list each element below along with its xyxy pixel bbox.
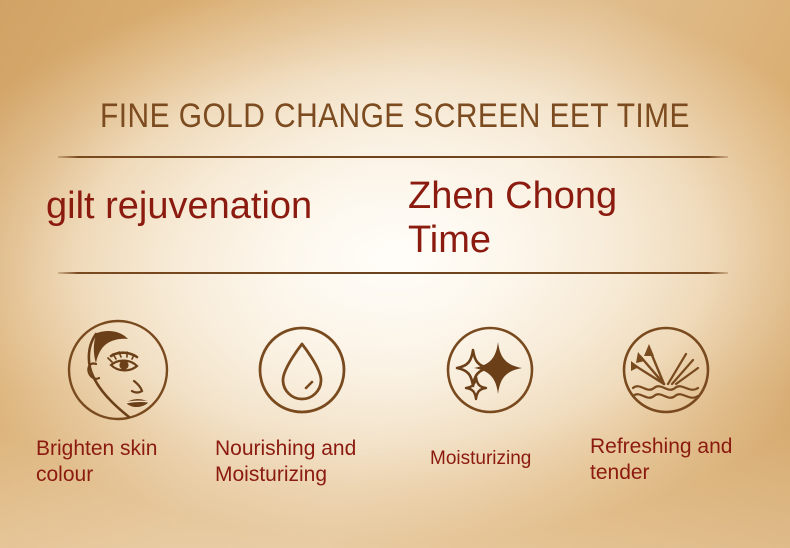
divider-top [58, 156, 728, 158]
feature-label-row: Brighten skin colour Nourishing and Mois… [0, 432, 790, 502]
banner-title: FINE GOLD CHANGE SCREEN EET TIME [47, 96, 742, 136]
sun-rays-water-icon [614, 318, 718, 422]
water-drop-icon [250, 318, 354, 422]
feature-label-moisturizing: Moisturizing [430, 446, 600, 472]
subtitle-row: gilt rejuvenation Zhen Chong Time [0, 168, 790, 268]
product-feature-banner: FINE GOLD CHANGE SCREEN EET TIME gilt re… [0, 0, 790, 548]
woman-face-icon [66, 318, 170, 422]
subtitle-left: gilt rejuvenation [46, 184, 312, 228]
divider-bottom [58, 272, 728, 274]
sparkles-icon [438, 318, 542, 422]
feature-label-brighten-skin-colour: Brighten skin colour [36, 436, 216, 488]
feature-icon-row [0, 312, 790, 432]
subtitle-right: Zhen Chong Time [408, 174, 698, 262]
feature-label-nourishing-and-moisturizing: Nourishing and Moisturizing [215, 436, 410, 488]
banner-content: FINE GOLD CHANGE SCREEN EET TIME gilt re… [0, 0, 790, 548]
feature-label-refreshing-and-tender: Refreshing and tender [590, 434, 775, 486]
